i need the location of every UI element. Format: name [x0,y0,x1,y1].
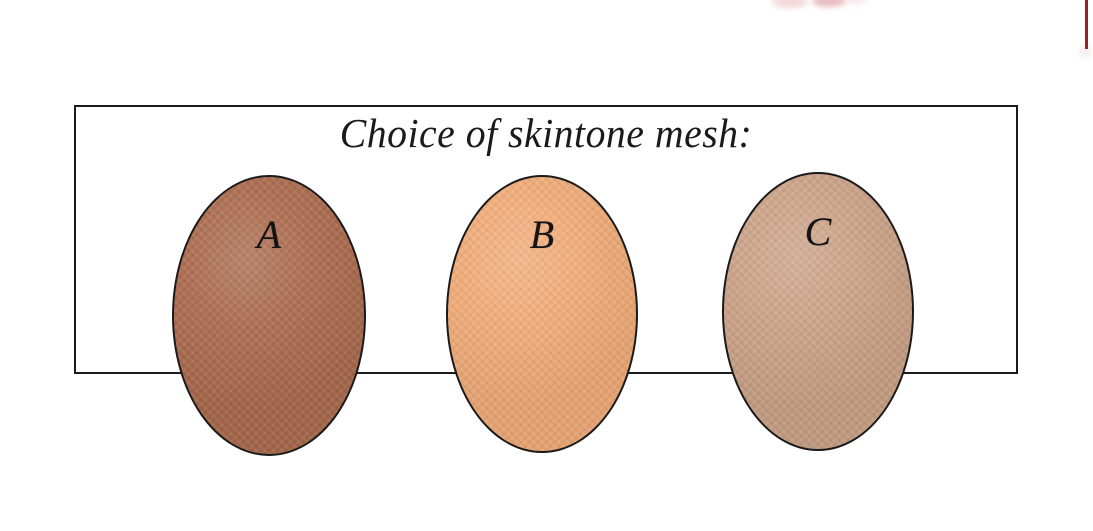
scan-smudge-artifact [772,0,808,8]
swatch-label-a: A [174,215,364,255]
skintone-swatch-b[interactable]: B [446,175,638,453]
red-edge-marker [1085,0,1088,49]
page-title: Choice of skintone mesh: [90,113,1002,154]
page-canvas: Choice of skintone mesh: A B C [0,0,1093,531]
scan-smudge-artifact [812,0,846,7]
skintone-swatch-c[interactable]: C [722,172,914,451]
swatch-label-b: B [448,215,636,255]
swatch-label-c: C [724,212,912,252]
skintone-swatch-a[interactable]: A [172,175,366,456]
scan-smudge-artifact [845,0,867,4]
